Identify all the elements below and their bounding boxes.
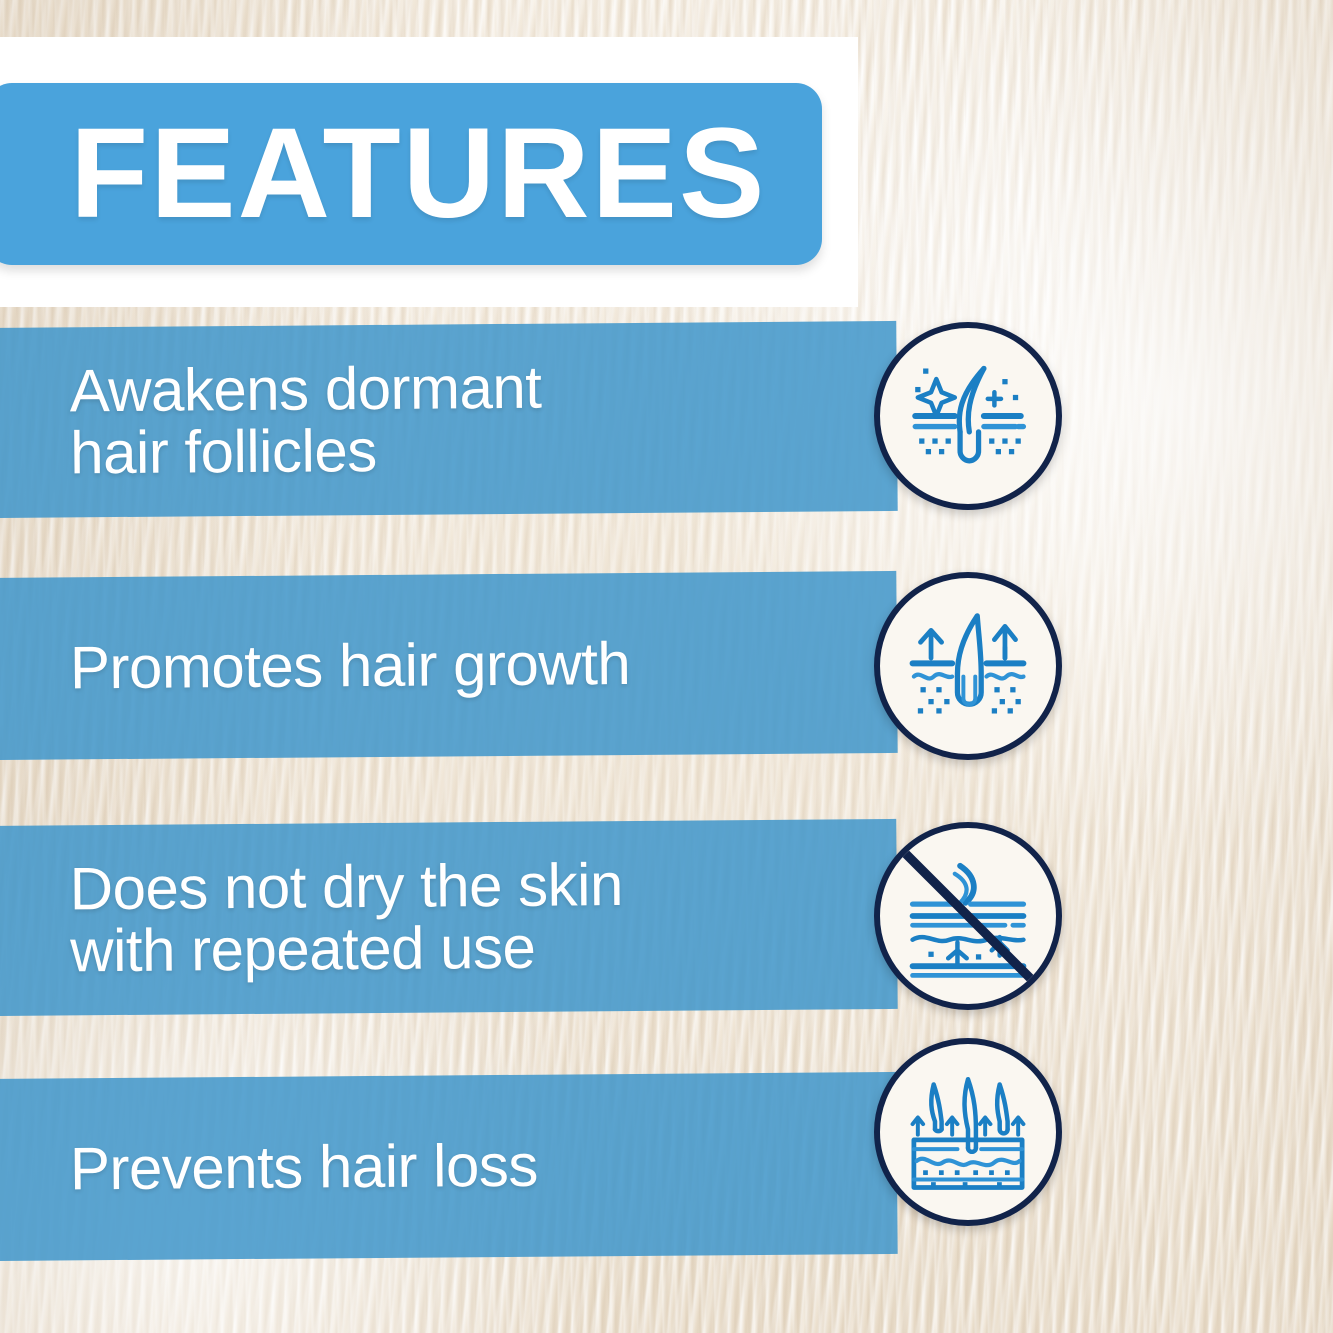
page-title: FEATURES <box>70 110 766 238</box>
hair-follicle-growth-glyph <box>902 600 1034 732</box>
feature-band-4: Prevents hair loss <box>0 1072 898 1261</box>
hair-follicle-sparkle-glyph <box>902 350 1034 482</box>
feature-band-2: Promotes hair growth <box>0 571 898 760</box>
features-poster: FEATURES Awakens dormant hair follicles … <box>0 0 1333 1333</box>
header-chip: FEATURES <box>0 83 822 265</box>
feature-label-1: Awakens dormant hair follicles <box>70 356 543 484</box>
no-dry-skin-prohibition-icon <box>874 822 1062 1010</box>
feature-label-3: Does not dry the skin with repeated use <box>70 854 624 983</box>
feature-label-4: Prevents hair loss <box>70 1135 538 1201</box>
feature-band-3: Does not dry the skin with repeated use <box>0 819 898 1016</box>
hair-follicle-growth-arrows-icon <box>874 572 1062 760</box>
feature-band-1: Awakens dormant hair follicles <box>0 321 898 518</box>
hair-loss-prevention-glyph <box>902 1066 1034 1198</box>
feature-label-2: Promotes hair growth <box>70 633 631 700</box>
hair-follicle-sparkle-icon <box>874 322 1062 510</box>
hair-loss-prevention-icon <box>874 1038 1062 1226</box>
prohibition-slash-icon <box>880 828 1056 1004</box>
